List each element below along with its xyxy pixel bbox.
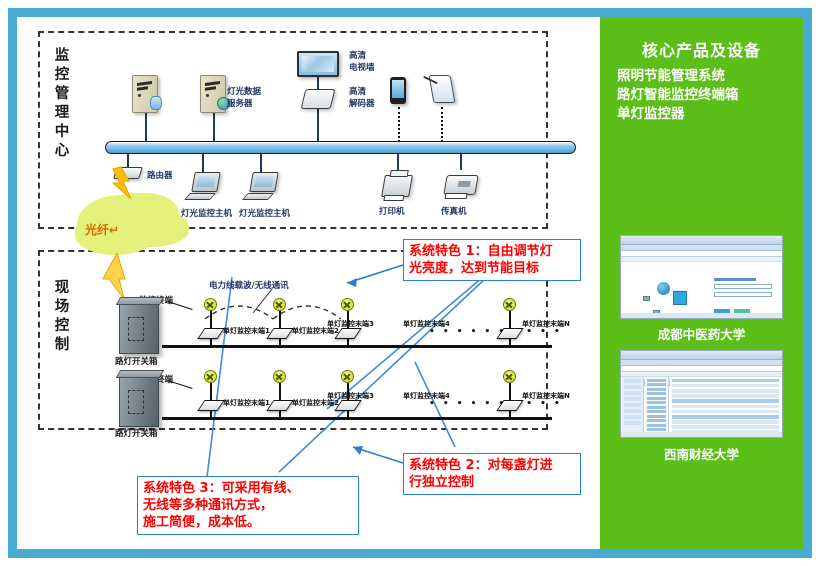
lamp-icon (204, 370, 217, 383)
panel-title: 核心产品及设备 (600, 37, 803, 61)
screenshot-caption: 成都中医药大学 (600, 324, 803, 343)
callout-3-line-3: 施工简便，成本低。 (143, 514, 353, 531)
lamp-icon (503, 370, 516, 383)
router-icon (113, 167, 143, 179)
server-icon (200, 75, 226, 113)
drop-line (202, 154, 204, 172)
product-list: 照明节能管理系统 路灯智能监控终端箱 单灯监控器 (617, 67, 803, 124)
lamp-icon (341, 370, 354, 383)
printer-label: 打印机 (379, 207, 405, 218)
router-label: 路由器 (147, 171, 173, 182)
lamp-icon (204, 298, 217, 311)
drop-line (213, 113, 215, 142)
printer-icon (381, 175, 413, 197)
desktop-pc-icon (187, 172, 221, 202)
field-control-label: 现场控制 (49, 279, 75, 355)
login-form (714, 278, 772, 312)
feature-callout-1: 系统特色 1：自由调节灯 光亮度，达到节能目标 (403, 239, 581, 281)
hd-tvwall-label-1: 高清 (349, 51, 366, 62)
street-light-cabinet-icon (119, 375, 159, 427)
drop-line (317, 77, 319, 89)
network-architecture-diagram: 监控管理中心 现场控制 灯光数据 服务器 (17, 17, 592, 549)
cabinet-label: 路灯开关箱 (115, 357, 158, 368)
feature-callout-3: 系统特色 3：可采用有线、 无线等多种通讯方式， 施工简便，成本低。 (137, 476, 359, 535)
product-item: 照明节能管理系统 (617, 67, 803, 86)
database-badge-icon (150, 96, 162, 110)
fax-icon (443, 175, 479, 195)
callout-3-line-2: 无线等多种通讯方式， (143, 497, 353, 514)
lamp-node-label: 单灯监控末端3 (327, 391, 374, 401)
screenshot-caption: 西南财经大学 (600, 444, 803, 463)
smartphone-icon (390, 77, 406, 104)
fax-label: 传真机 (441, 207, 467, 218)
power-line-row1 (162, 345, 552, 348)
tv-wall-icon (297, 51, 339, 77)
product-item: 路灯智能监控终端箱 (617, 86, 803, 105)
callout-1-line-1: 系统特色 1：自由调节灯 (409, 243, 575, 260)
street-light-cabinet-icon (119, 302, 159, 354)
feature-callout-2: 系统特色 2：对每盏灯进 行独立控制 (403, 453, 581, 495)
product-item: 单灯监控器 (617, 105, 803, 124)
fiber-label: 光纤↵ (85, 221, 119, 238)
drop-line (260, 154, 262, 172)
tablet-icon (429, 75, 456, 103)
network-backbone-bus (105, 141, 576, 154)
cabinet-label: 路灯开关箱 (115, 429, 158, 440)
lamp-pole (509, 381, 511, 417)
drop-line (460, 154, 462, 170)
hd-decoder-label-2: 解码器 (349, 99, 375, 110)
light-monitor-host-label: 灯光监控主机 (239, 209, 290, 220)
lamp-icon (273, 370, 286, 383)
lamp-icon (273, 298, 286, 311)
lamp-pole (279, 381, 281, 417)
lamp-icon (503, 298, 516, 311)
globe-illustration (657, 282, 670, 295)
lamp-pole (509, 309, 511, 345)
lamp-pole (279, 309, 281, 345)
power-line-row2 (162, 417, 552, 420)
login-page-screenshot (620, 235, 783, 319)
callout-1-line-2: 光亮度，达到节能目标 (409, 260, 575, 277)
lamp-node-label: 单灯监控末端N (522, 319, 570, 329)
desktop-pc-icon (245, 172, 279, 202)
core-products-panel: 核心产品及设备 照明节能管理系统 路灯智能监控终端箱 单灯监控器 (600, 17, 803, 549)
lamp-icon (341, 298, 354, 311)
callout-2-line-2: 行独立控制 (409, 474, 575, 491)
decoder-icon (301, 89, 336, 109)
lamp-node-label: 单灯监控末端1 (223, 398, 270, 408)
drop-line-dotted (441, 107, 443, 142)
page-root: 监控管理中心 现场控制 灯光数据 服务器 (0, 0, 820, 566)
hd-tvwall-label-2: 电视墙 (349, 63, 375, 74)
plc-comm-label: 电力线载波/无线通讯 (209, 279, 289, 291)
light-monitor-host-label: 灯光监控主机 (181, 209, 232, 220)
data-table-screenshot (620, 350, 783, 438)
lamp-node-label: 单灯监控末端3 (327, 319, 374, 329)
qr-code-icon (673, 291, 687, 305)
light-data-server-label-2: 服务器 (227, 99, 253, 110)
callout-3-line-1: 系统特色 3：可采用有线、 (143, 480, 353, 497)
server-icon (132, 75, 158, 113)
drop-line-dotted (398, 107, 400, 142)
lamp-node-label: 单灯监控末端N (522, 391, 570, 401)
callout-2-line-1: 系统特色 2：对每盏灯进 (409, 457, 575, 474)
monitoring-center-label: 监控管理中心 (49, 47, 75, 161)
drop-line (397, 154, 399, 170)
lamp-pole (210, 309, 212, 345)
hd-decoder-label-1: 高清 (349, 87, 366, 98)
lamp-pole (210, 381, 212, 417)
drop-line (145, 113, 147, 142)
light-data-server-label: 灯光数据 (227, 87, 261, 98)
lamp-node-label: 单灯监控末端1 (223, 326, 270, 336)
